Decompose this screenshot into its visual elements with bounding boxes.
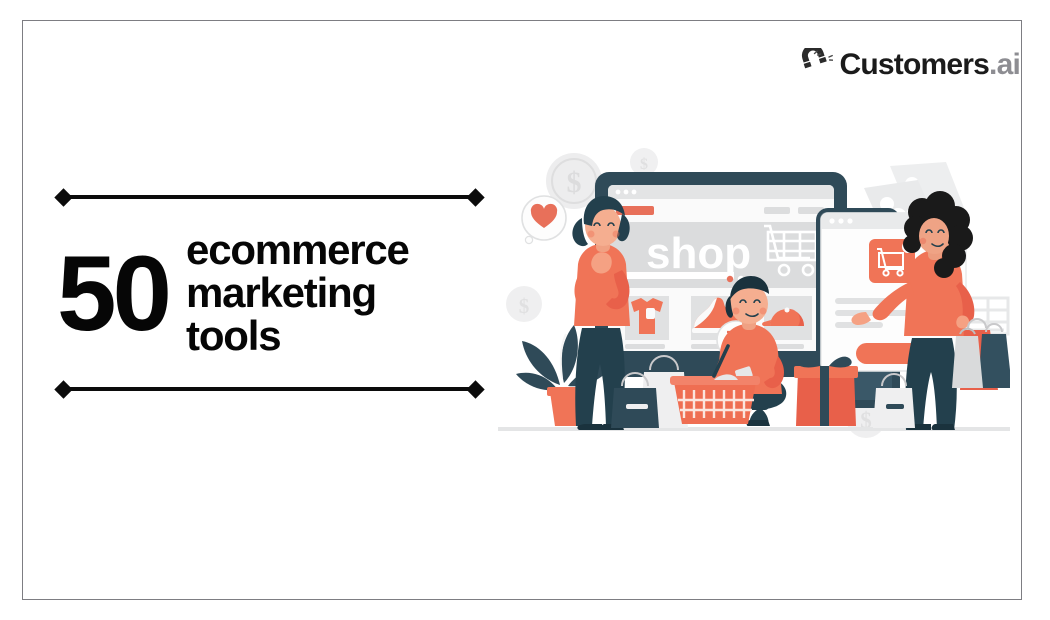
headline-line-3: tools: [186, 315, 409, 358]
poster-canvas: Customers.ai 50 ecommerce marketing tool…: [0, 0, 1050, 620]
divider-bar: [64, 195, 475, 199]
svg-text:$: $: [640, 156, 648, 173]
heart-bubble-icon: [522, 196, 566, 244]
headline-number: 50: [57, 244, 168, 342]
headline-text: ecommerce marketing tools: [186, 229, 409, 357]
brand-name-text: Customers: [840, 48, 990, 81]
diamond-icon-right: [466, 380, 484, 398]
magnet-icon: [799, 48, 833, 82]
title-row: 50 ecommerce marketing tools: [57, 229, 482, 357]
brand-suffix: .ai: [989, 48, 1020, 81]
divider-bar: [64, 387, 475, 391]
brand-logo[interactable]: Customers.ai: [799, 48, 1020, 82]
ecommerce-shopping-illustration: $ $ $ $: [498, 140, 1010, 470]
headline-line-2: marketing: [186, 272, 409, 315]
product-tshirt: [625, 296, 669, 340]
svg-text:$: $: [519, 294, 530, 318]
headline-block: 50 ecommerce marketing tools: [57, 190, 482, 396]
dollar-coin-icon: $: [506, 286, 542, 322]
divider-top: [57, 190, 482, 204]
dollar-coin-icon: $: [630, 148, 658, 176]
gift-box-icon: [794, 357, 858, 426]
brand-name: Customers.ai: [840, 50, 1020, 80]
headline-line-1: ecommerce: [186, 229, 409, 272]
diamond-icon-right: [466, 188, 484, 206]
divider-bottom: [57, 382, 482, 396]
svg-text:$: $: [567, 166, 582, 199]
screen-headline: shop: [646, 229, 751, 278]
